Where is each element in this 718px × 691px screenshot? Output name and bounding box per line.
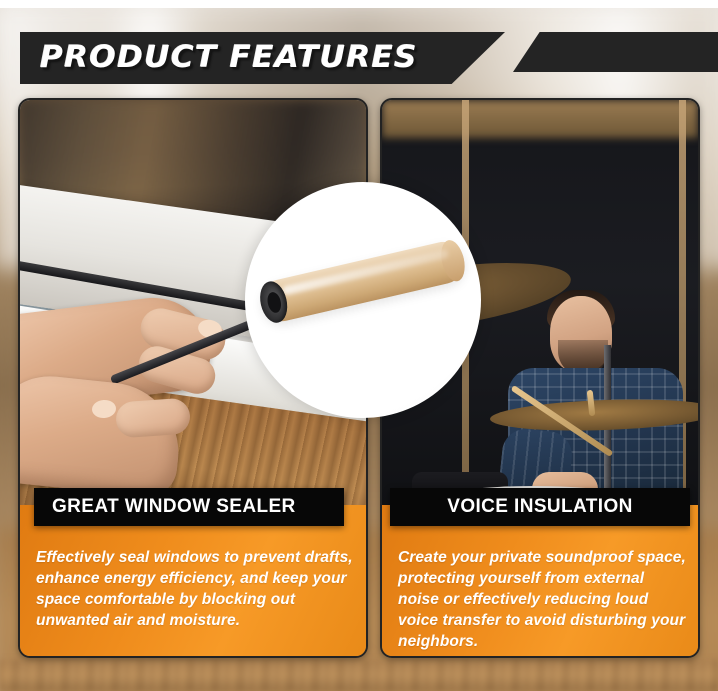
feature-description-left: Effectively seal windows to prevent draf… xyxy=(36,547,354,631)
tube-highlight xyxy=(281,249,449,296)
finger-3 xyxy=(115,397,191,438)
product-features-infographic: PRODUCT FEATURES Effectively seal window… xyxy=(0,0,718,691)
background-bottom-wood-strip xyxy=(0,660,718,691)
feature-title-bar-left: GREAT WINDOW SEALER xyxy=(34,488,344,526)
feature-text-panel-left: Effectively seal windows to prevent draf… xyxy=(20,505,366,658)
ceiling-wood-trim xyxy=(382,100,698,138)
feature-text-panel-right: Create your private soundproof space, pr… xyxy=(382,505,698,658)
product-foam-seal-tube xyxy=(256,238,468,326)
page-title: PRODUCT FEATURES xyxy=(40,40,418,75)
feature-description-right: Create your private soundproof space, pr… xyxy=(398,547,686,652)
product-circle-callout xyxy=(245,182,481,418)
feature-title-window-sealer: GREAT WINDOW SEALER xyxy=(52,496,296,518)
tube-core-hole xyxy=(266,291,283,314)
feature-title-bar-right: VOICE INSULATION xyxy=(390,488,690,526)
feature-title-voice-insulation: VOICE INSULATION xyxy=(447,496,633,518)
header-banner-accent xyxy=(513,32,718,72)
top-white-strip xyxy=(0,0,718,8)
tube-end-right xyxy=(438,238,469,284)
